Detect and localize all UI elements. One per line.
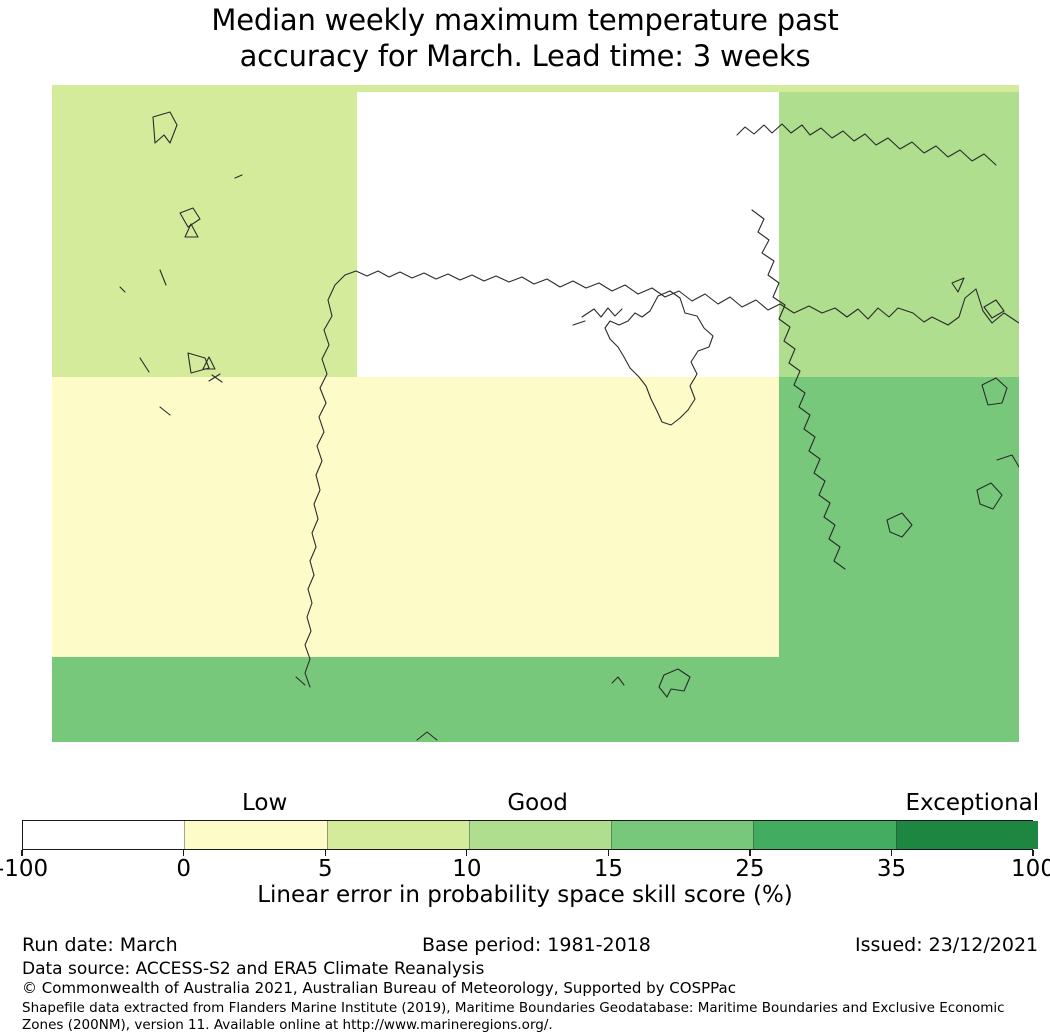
footer-run-date: Run date: March [22,933,178,957]
colorbar-tick-label-35: 35 [877,856,906,882]
colorbar-gradient [22,820,1033,850]
footer-shapefile-credit: Shapefile data extracted from Flanders M… [22,1000,1036,1034]
colorbar-segment-15-25 [611,821,753,849]
colorbar-tick-label--100: -100 [0,856,48,882]
colorbar-axis-label: Linear error in probability space skill … [0,882,1050,908]
footer-copyright: © Commonwealth of Australia 2021, Austra… [22,978,736,998]
footer-base-period: Base period: 1981-2018 [422,933,651,957]
map-cell-sw [52,377,779,657]
colorbar-segment-25-35 [753,821,895,849]
map-cell-n-centre [357,92,780,376]
colorbar-segment-0-5 [184,821,326,849]
colorbar-quality-low: Low [242,790,287,816]
colorbar[interactable]: -1000510152535100 LowGoodExceptional [22,820,1033,850]
colorbar-tick-label-5: 5 [318,856,333,882]
map-cell-south-band [52,657,1019,742]
colorbar-quality-good: Good [507,790,568,816]
footer-data-source: Data source: ACCESS-S2 and ERA5 Climate … [22,958,484,980]
colorbar-segment--100-0 [23,821,184,849]
map-panel[interactable] [52,85,1019,742]
colorbar-tick-label-25: 25 [735,856,764,882]
colorbar-tick-label-10: 10 [452,856,481,882]
map-cell-nw [52,92,357,376]
map-cell-top-strip-right [779,85,1019,92]
colorbar-segment-5-10 [327,821,469,849]
map-cell-ne [779,92,1019,376]
colorbar-tick-label-0: 0 [176,856,191,882]
footer-issued-date: Issued: 23/12/2021 [855,933,1038,957]
colorbar-tick-label-100: 100 [1011,856,1050,882]
map-cell-top-strip-left [52,85,779,92]
colorbar-segment-10-15 [469,821,611,849]
colorbar-quality-exceptional: Exceptional [905,790,1039,816]
colorbar-tick-label-15: 15 [594,856,623,882]
page-title: Median weekly maximum temperature past a… [0,2,1050,74]
map-cell-se [779,377,1019,657]
colorbar-segment-35-100 [896,821,1038,849]
